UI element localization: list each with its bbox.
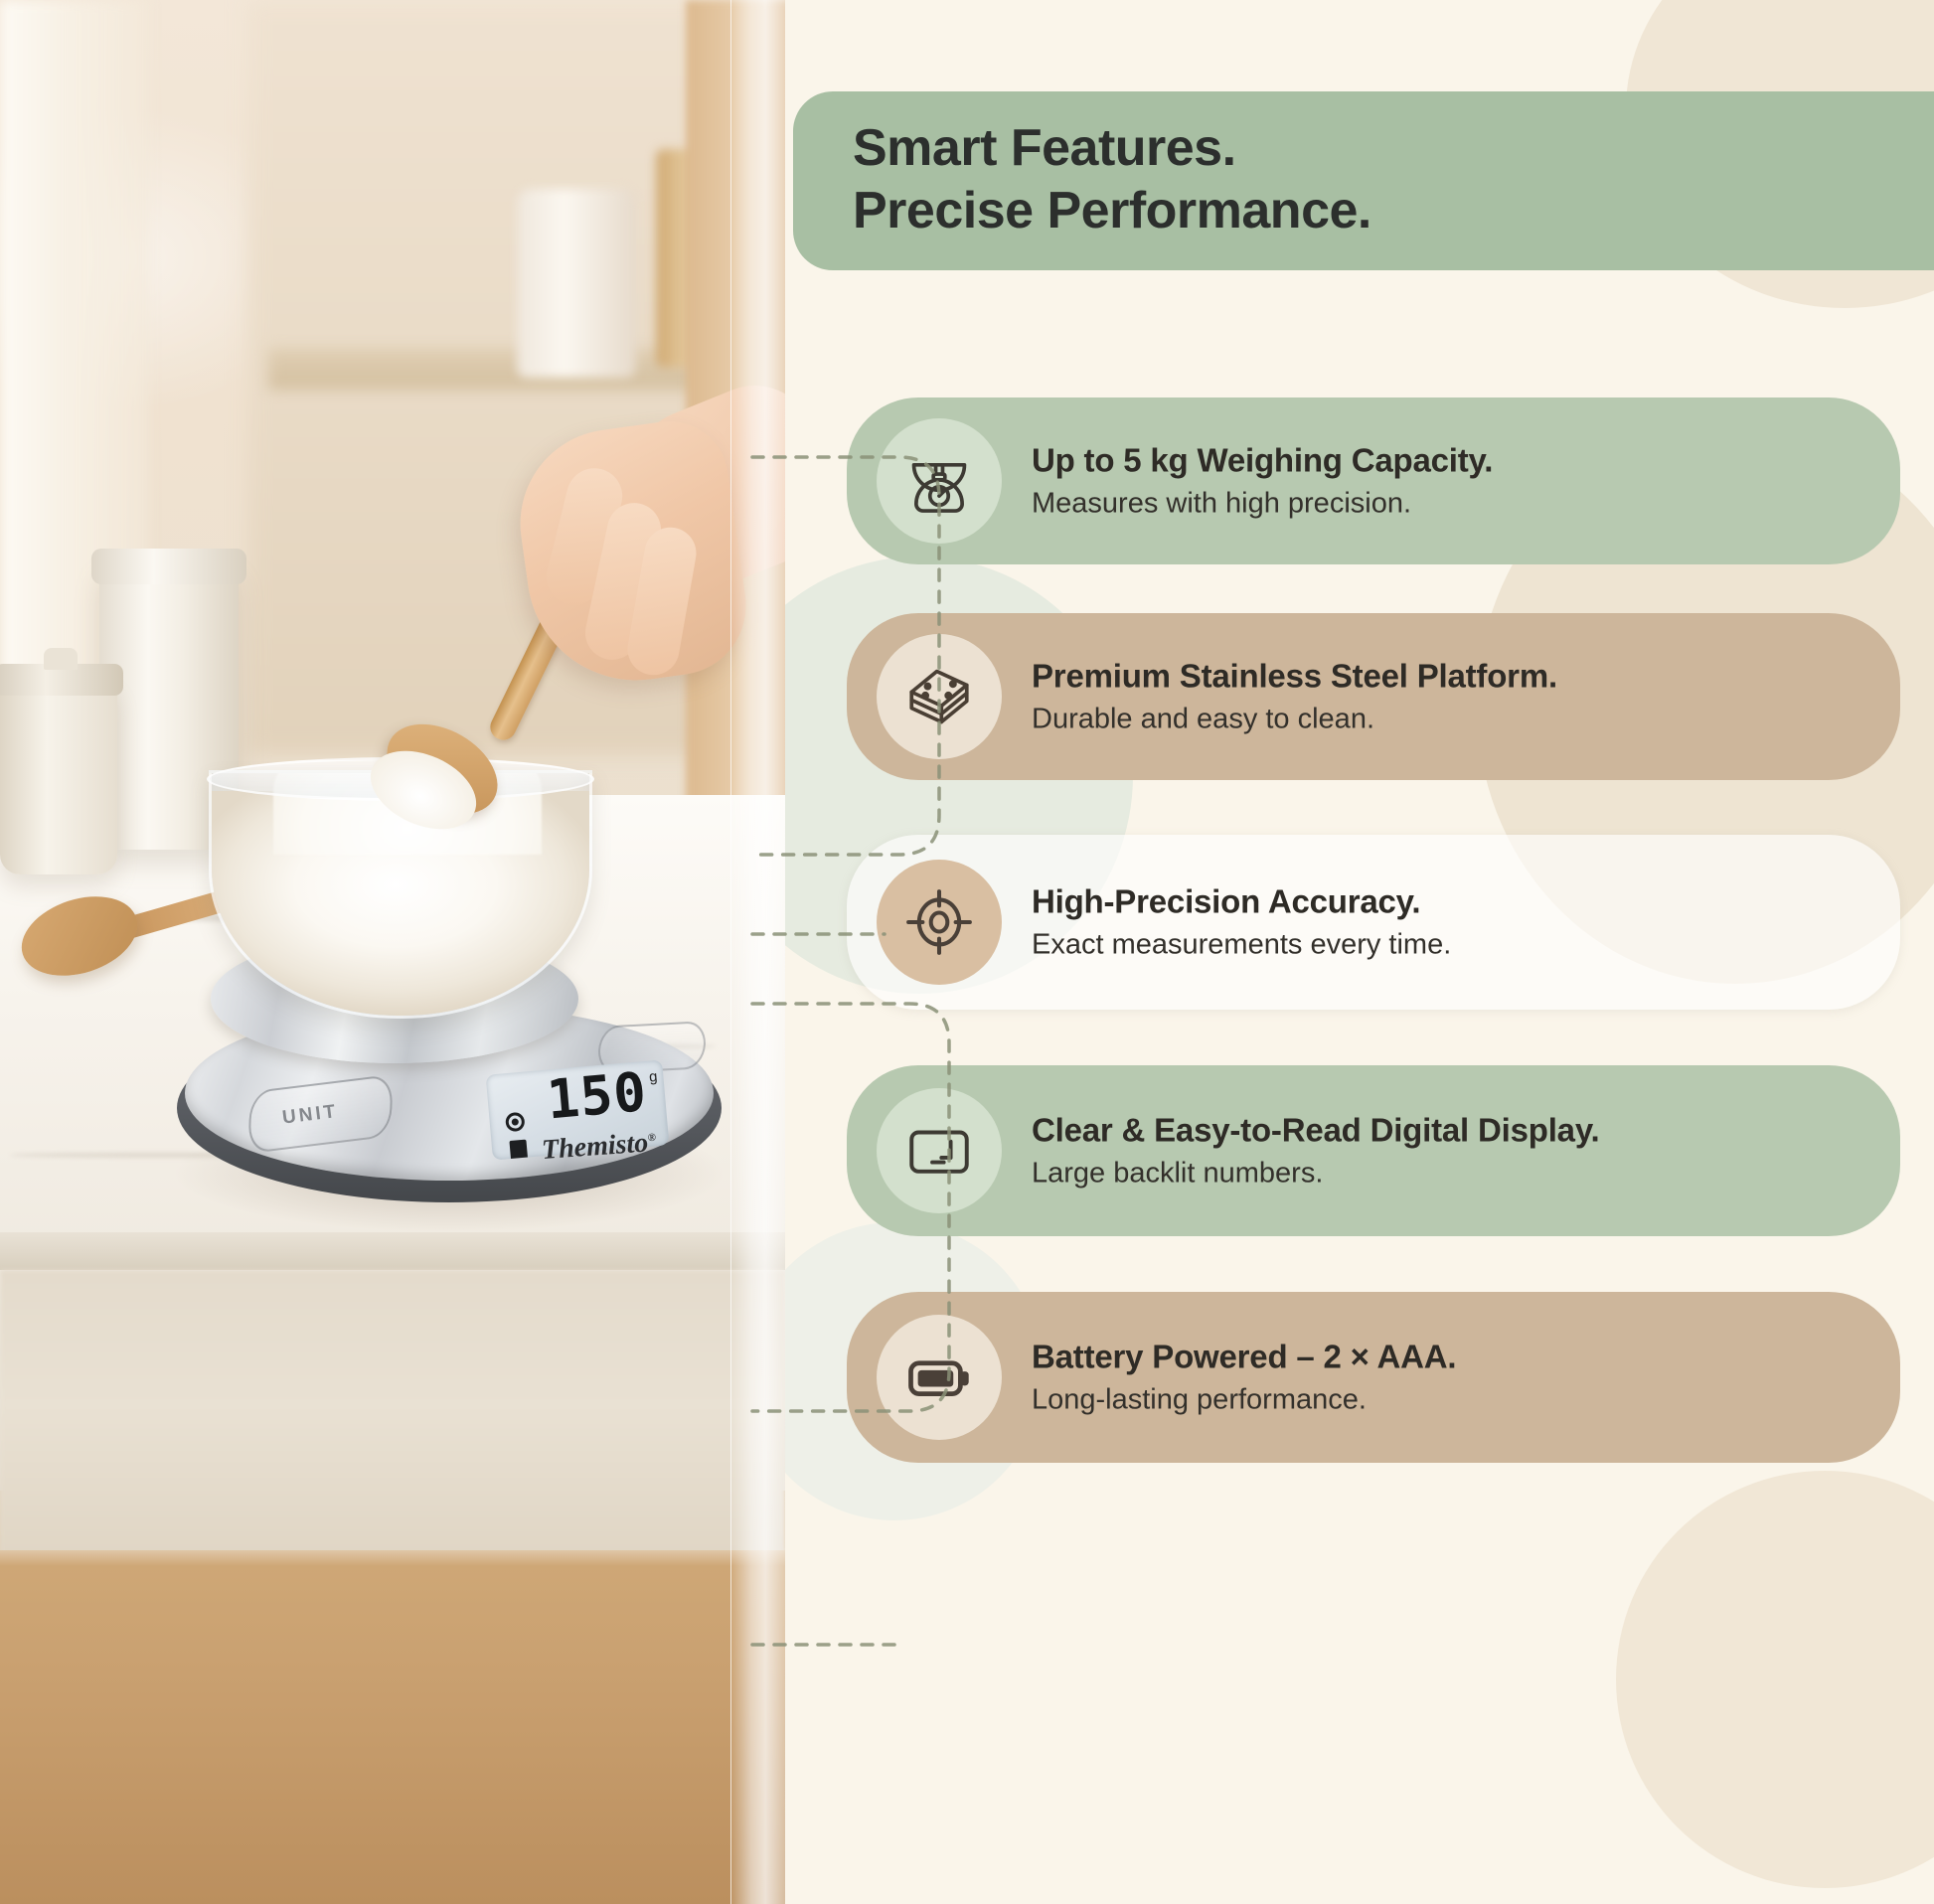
- decorative-blob: [1616, 1471, 1934, 1888]
- feature-subtitle: Measures with high precision.: [1032, 485, 1860, 521]
- feature-title: Premium Stainless Steel Platform.: [1032, 657, 1860, 697]
- features-panel: Smart Features. Precise Performance. Up …: [785, 0, 1934, 1904]
- kitchen-scale-icon: [877, 418, 1002, 544]
- background-jar-white: [517, 189, 636, 378]
- feature-card-stainless-platform[interactable]: Premium Stainless Steel Platform. Durabl…: [847, 613, 1900, 780]
- feature-card-text: Premium Stainless Steel Platform. Durabl…: [1032, 657, 1860, 737]
- crosshair-target-icon: [877, 860, 1002, 985]
- feature-title: Clear & Easy-to-Read Digital Display.: [1032, 1111, 1860, 1151]
- scale-brand-text: Themisto: [541, 1128, 649, 1166]
- feature-card-text: Clear & Easy-to-Read Digital Display. La…: [1032, 1111, 1860, 1191]
- ceramic-jar-small-knob: [44, 648, 78, 670]
- feature-card-weighing-capacity[interactable]: Up to 5 kg Weighing Capacity. Measures w…: [847, 397, 1900, 564]
- feature-subtitle: Exact measurements every time.: [1032, 926, 1860, 962]
- feature-subtitle: Durable and easy to clean.: [1032, 701, 1860, 736]
- registered-trademark-icon: ®: [647, 1132, 656, 1145]
- lcd-weight-value: 150: [545, 1065, 649, 1128]
- feature-card-digital-display[interactable]: Clear & Easy-to-Read Digital Display. La…: [847, 1065, 1900, 1236]
- feature-card-text: Up to 5 kg Weighing Capacity. Measures w…: [1032, 441, 1860, 522]
- feature-card-text: High-Precision Accuracy. Exact measureme…: [1032, 882, 1860, 963]
- ceramic-jar-small: [0, 681, 117, 874]
- glass-panel-seam: [730, 0, 785, 1904]
- page-title-line2: Precise Performance.: [853, 180, 1847, 242]
- lcd-unit-label: g: [648, 1068, 658, 1086]
- feature-card-text: Battery Powered – 2 × AAA. Long-lasting …: [1032, 1338, 1860, 1418]
- lcd-tare-indicator-icon: [505, 1112, 526, 1133]
- battery-icon: [877, 1315, 1002, 1440]
- lcd-battery-indicator-icon: [509, 1140, 528, 1160]
- feature-title: High-Precision Accuracy.: [1032, 882, 1860, 922]
- feature-card-battery-powered[interactable]: Battery Powered – 2 × AAA. Long-lasting …: [847, 1292, 1900, 1463]
- scale-unit-button-label: UNIT: [281, 1101, 340, 1130]
- stacked-plates-icon: [877, 634, 1002, 759]
- product-photo-panel: UNIT 150 g Themisto®: [0, 0, 785, 1904]
- header-banner: Smart Features. Precise Performance.: [793, 91, 1934, 270]
- wood-cabinet-base: [0, 1550, 785, 1904]
- feature-title: Battery Powered – 2 × AAA.: [1032, 1338, 1860, 1377]
- feature-title: Up to 5 kg Weighing Capacity.: [1032, 441, 1860, 481]
- ceramic-jar-tall-lid: [91, 549, 246, 584]
- feature-card-precision-accuracy[interactable]: High-Precision Accuracy. Exact measureme…: [847, 835, 1900, 1010]
- feature-subtitle: Long-lasting performance.: [1032, 1381, 1860, 1417]
- feature-subtitle: Large backlit numbers.: [1032, 1155, 1860, 1190]
- counter-edge: [0, 1232, 785, 1270]
- page-title: Smart Features. Precise Performance.: [853, 117, 1847, 243]
- page-title-line1: Smart Features.: [853, 117, 1847, 180]
- digital-display-icon: [877, 1088, 1002, 1213]
